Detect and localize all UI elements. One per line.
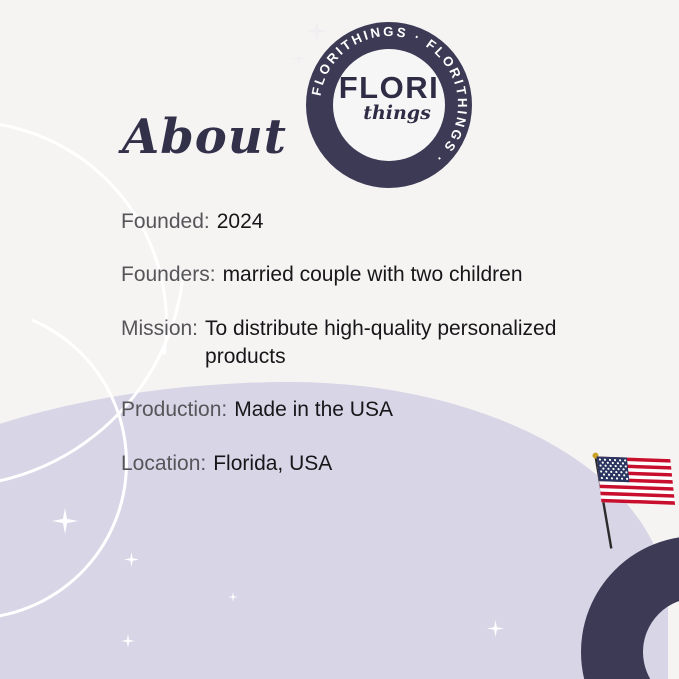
sparkle-icon xyxy=(52,508,78,534)
sparkle-icon xyxy=(228,592,238,602)
info-value: married couple with two children xyxy=(223,261,523,289)
page-title: About xyxy=(122,113,287,161)
sparkle-icon xyxy=(487,620,504,637)
logo-center-text: FLORI things xyxy=(306,72,472,123)
info-row-location: Location: Florida, USA xyxy=(121,450,641,478)
info-label: Mission: xyxy=(121,315,198,343)
info-value: Florida, USA xyxy=(213,450,332,478)
info-row-founded: Founded: 2024 xyxy=(121,208,641,236)
about-card: FLORITHINGS · FLORITHINGS · FLORI things… xyxy=(0,0,679,679)
info-value: 2024 xyxy=(217,208,264,236)
info-row-mission: Mission: To distribute high-quality pers… xyxy=(121,315,641,372)
info-label: Founded: xyxy=(121,208,210,236)
sparkle-icon xyxy=(124,552,139,567)
sparkle-icon xyxy=(292,52,305,65)
sparkle-icon xyxy=(121,634,135,648)
info-row-production: Production: Made in the USA xyxy=(121,396,641,424)
logo-word-things: things xyxy=(322,104,472,123)
info-value: To distribute high-quality personalized … xyxy=(205,315,641,372)
logo-word-flori: FLORI xyxy=(306,72,472,103)
usa-flag-icon xyxy=(584,438,679,552)
info-label: Founders: xyxy=(121,261,216,289)
info-label: Production: xyxy=(121,396,227,424)
info-label: Location: xyxy=(121,450,206,478)
florithings-logo: FLORITHINGS · FLORITHINGS · FLORI things xyxy=(306,22,472,188)
about-info-list: Founded: 2024 Founders: married couple w… xyxy=(121,208,641,478)
navy-ring-shape xyxy=(581,536,679,679)
info-value: Made in the USA xyxy=(234,396,393,424)
info-row-founders: Founders: married couple with two childr… xyxy=(121,261,641,289)
